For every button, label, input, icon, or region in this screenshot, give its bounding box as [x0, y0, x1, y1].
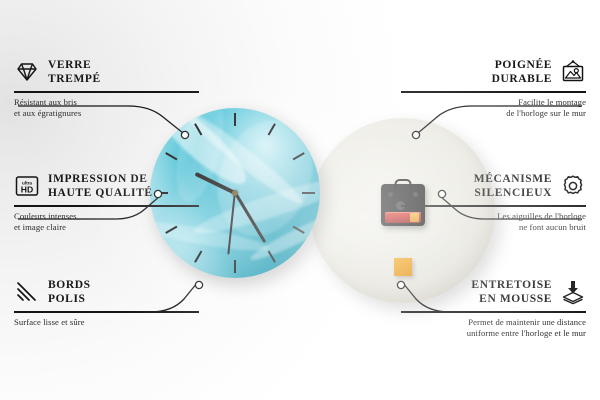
mechanism-screw: [388, 192, 393, 197]
feature-description: Couleurs intenseset image claire: [14, 211, 199, 234]
feature-mecanisme-silencieux: MÉCANISMESILENCIEUX Les aiguilles de l'h…: [401, 172, 586, 234]
divider: [401, 91, 586, 93]
divider: [14, 311, 199, 313]
diamond-icon: [14, 59, 40, 85]
ultra-hd-icon: ultra HD: [14, 173, 40, 199]
feature-bords-polis: BORDSPOLIS Surface lisse et sûre: [14, 278, 199, 328]
feature-poignee-durable: POIGNÉEDURABLE Facilite le montagede l'h…: [401, 58, 586, 120]
feature-title: MÉCANISMESILENCIEUX: [474, 172, 552, 200]
feature-entretoise-en-mousse: ENTRETOISEEN MOUSSE Permet de maintenir …: [401, 278, 586, 340]
divider: [401, 205, 586, 207]
feature-impression-haute-qualite: ultra HD IMPRESSION DEHAUTE QUALITÉ Coul…: [14, 172, 199, 234]
feature-verre-trempe: VERRETREMPÉ Résistant aux briset aux égr…: [14, 58, 199, 120]
gear-icon: [560, 173, 586, 199]
divider: [401, 311, 586, 313]
feature-title: VERRETREMPÉ: [48, 58, 101, 86]
product-infographic: VERRETREMPÉ Résistant aux briset aux égr…: [0, 0, 600, 400]
feature-description: Les aiguilles de l'horlogene font aucun …: [401, 211, 586, 234]
feature-title: POIGNÉEDURABLE: [492, 58, 552, 86]
divider: [14, 91, 199, 93]
divider: [14, 205, 199, 207]
feature-title: IMPRESSION DEHAUTE QUALITÉ: [48, 172, 153, 200]
feature-description: Résistant aux briset aux égratignures: [14, 97, 199, 120]
picture-hanger-icon: [560, 59, 586, 85]
svg-text:HD: HD: [21, 185, 33, 195]
feature-title: ENTRETOISEEN MOUSSE: [471, 278, 552, 306]
feature-description: Permet de maintenir une distanceuniforme…: [401, 317, 586, 340]
foam-spacer-icon: [560, 279, 586, 305]
foam-spacer: [394, 258, 412, 276]
feature-description: Facilite le montagede l'horloge sur le m…: [401, 97, 586, 120]
center-pin: [232, 190, 238, 196]
feature-title: BORDSPOLIS: [48, 278, 91, 306]
polished-edges-icon: [14, 279, 40, 305]
feature-description: Surface lisse et sûre: [14, 317, 199, 329]
